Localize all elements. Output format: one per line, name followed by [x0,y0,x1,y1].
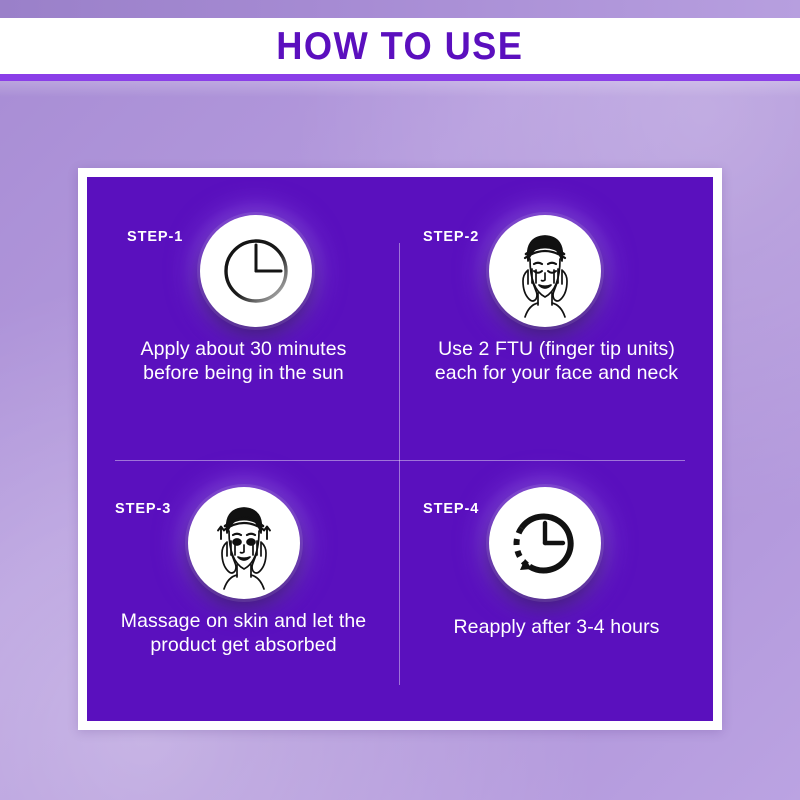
step-3: STEP-3 [87,449,400,721]
step-2-icon-circle [489,215,601,327]
header-sheen [0,81,800,97]
step-3-caption-line2: product get absorbed [91,633,396,657]
how-to-use-infographic: HOW TO USE STEP-1 [0,0,800,800]
step-4-icon-circle [489,487,601,599]
step-2-label: STEP-2 [423,229,479,245]
step-2-caption-line1: Use 2 FTU (finger tip units) [438,338,675,360]
header-band: HOW TO USE [0,18,800,74]
step-4: STEP-4 [400,449,713,721]
step-1-caption: Apply about 30 minutes before being in t… [91,337,396,385]
reapply-clock-icon [501,499,589,587]
step-3-label: STEP-3 [115,501,171,517]
clock-icon [213,228,299,314]
step-4-label: STEP-4 [423,501,479,517]
face-massage-icon [194,493,294,593]
top-background-strip [0,0,800,18]
steps-panel-frame: STEP-1 [78,168,722,730]
step-4-caption: Reapply after 3-4 hours [404,615,709,639]
step-3-icon-circle [188,487,300,599]
step-3-caption: Massage on skin and let the product get … [91,609,396,657]
step-1-label: STEP-1 [127,229,183,245]
step-1-caption-line2: before being in the sun [91,361,396,385]
step-2: STEP-2 [400,177,713,449]
step-3-caption-line1: Massage on skin and let the [121,610,367,632]
step-1-icon-circle [200,215,312,327]
step-1-caption-line1: Apply about 30 minutes [141,338,347,360]
face-apply-icon [495,221,595,321]
steps-panel: STEP-1 [87,177,713,721]
step-1: STEP-1 [87,177,400,449]
step-2-caption: Use 2 FTU (finger tip units) each for yo… [404,337,709,385]
header-accent-stripe [0,74,800,81]
step-2-caption-line2: each for your face and neck [404,361,709,385]
page-title: HOW TO USE [276,27,523,66]
step-4-caption-line1: Reapply after 3-4 hours [453,616,659,638]
